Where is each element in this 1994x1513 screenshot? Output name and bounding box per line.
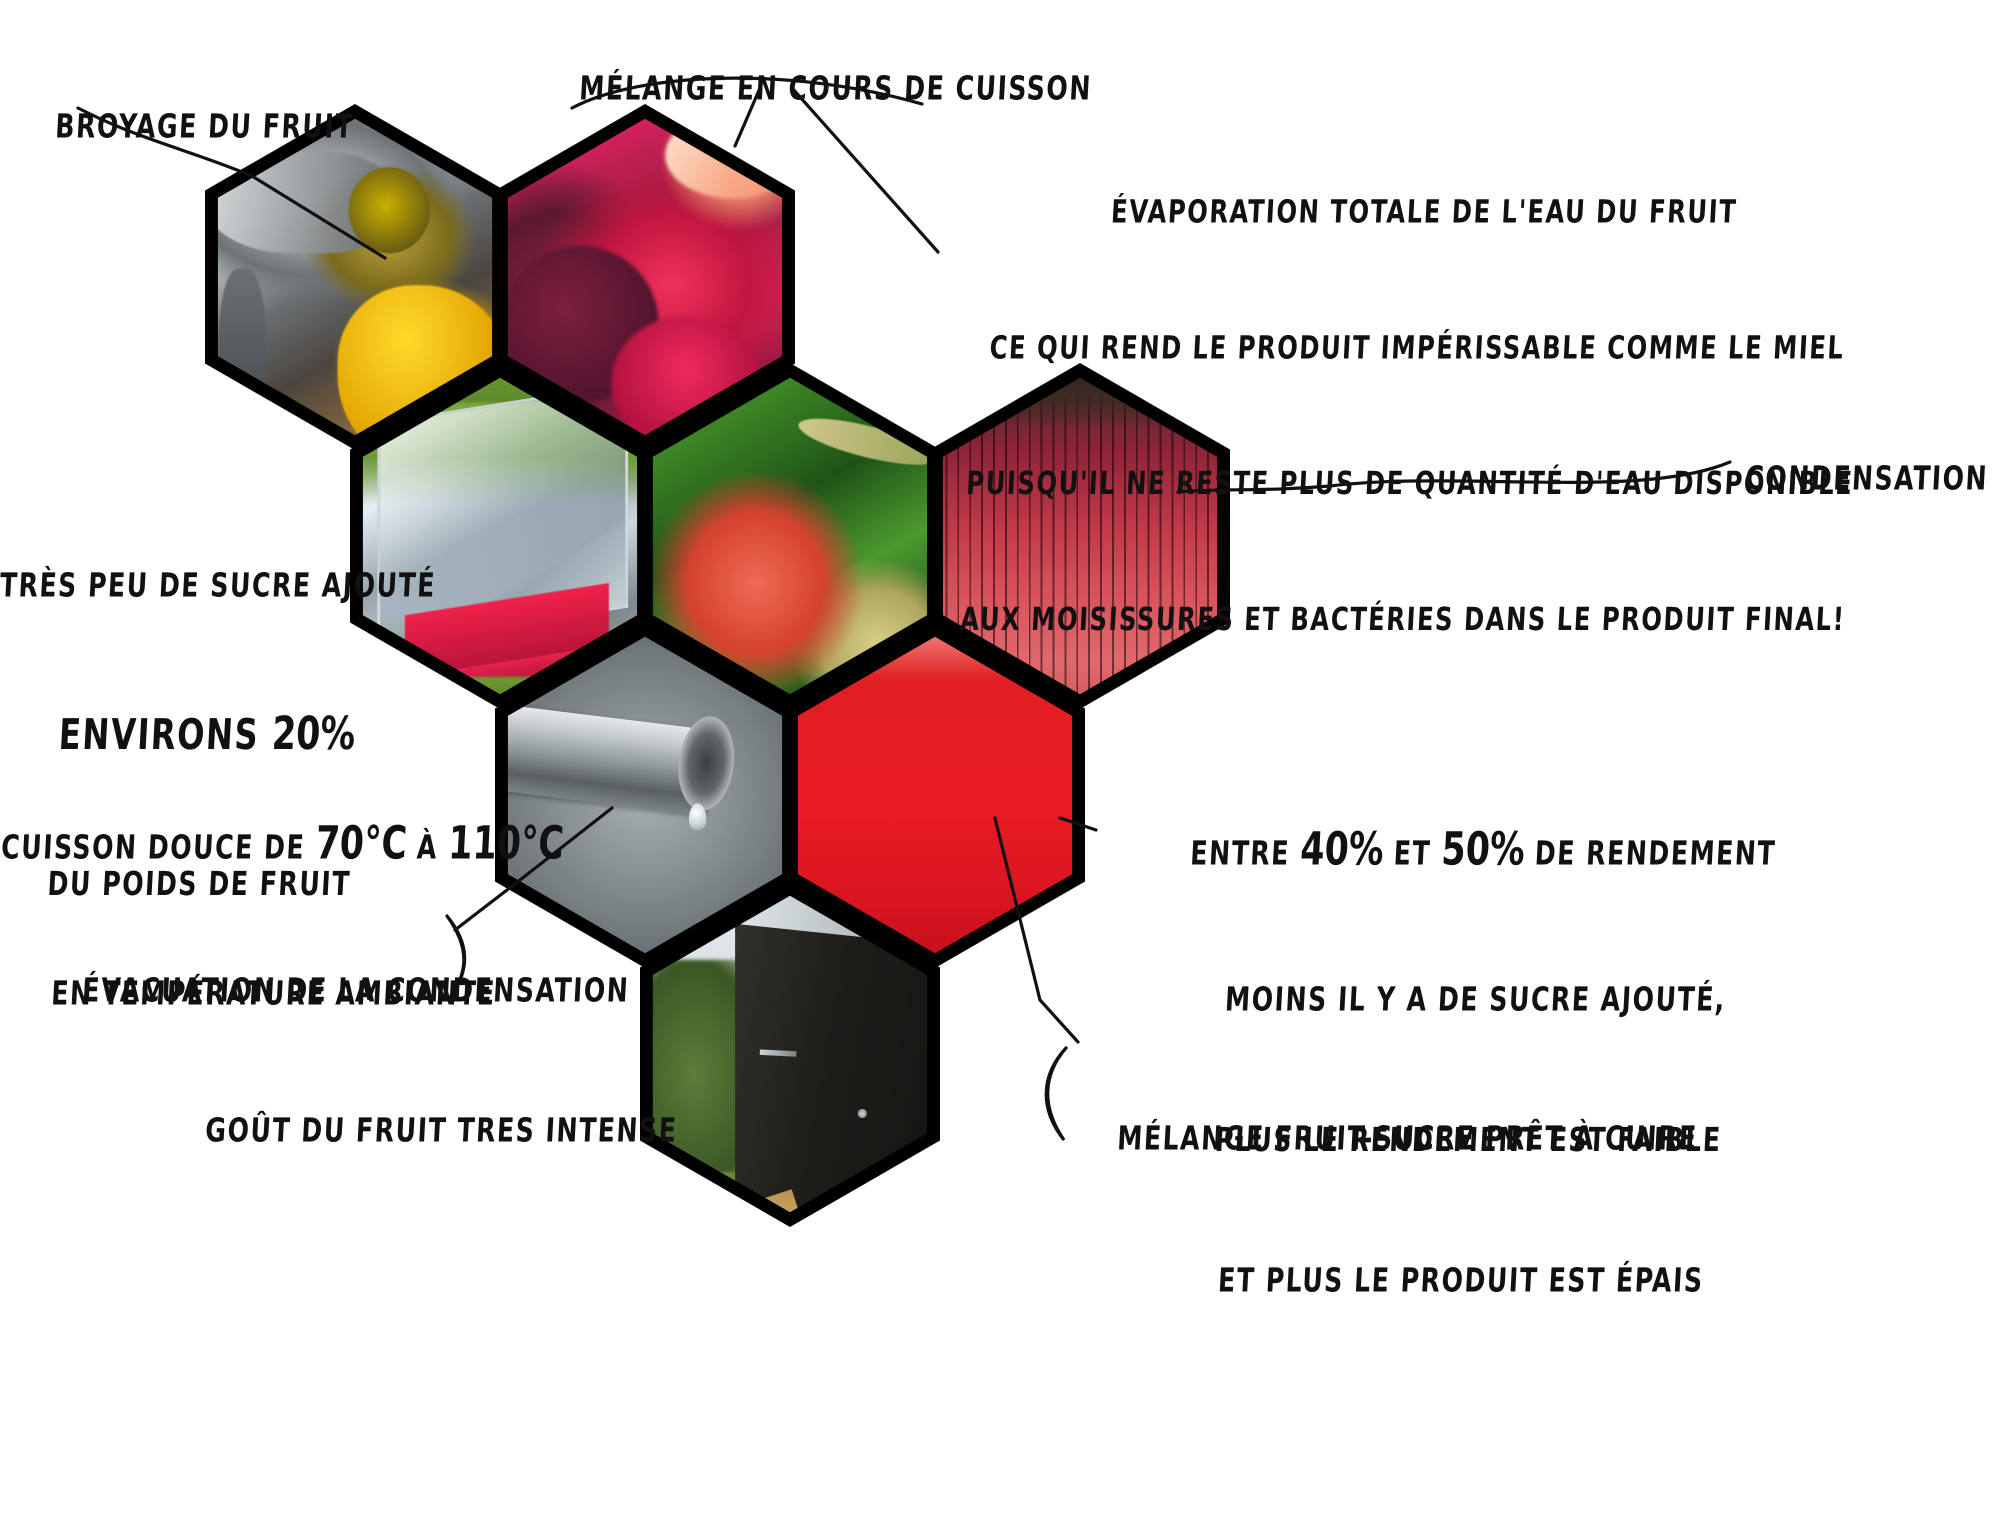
caption-rendement-block: Entre 40% et 50% de rendement Moins il y… [1065,724,1880,1398]
caption-evacuation-text: Évacuation de la condensation [81,970,630,1009]
evaporation-line-1: Évaporation totale de l'eau du fruit [873,190,1975,235]
melange-en-cuisson-photo [508,119,783,436]
rendement-suffix: de rendement [1524,833,1778,872]
evaporation-line-2: ce qui rend le produit impérissable comm… [866,326,1968,371]
cuisson-temp-min: 70°C [314,817,408,870]
rendement-line-4: et plus le produit est épais [1070,1258,1852,1305]
four-exterieur-photo [653,896,928,1213]
cuisson-temp-max: 110°C [447,817,565,870]
caption-broyage-text: Broyage du fruit [54,106,355,145]
sucre-line-1: Très peu de sucre ajouté [0,562,431,609]
hexagon-inner-clip [653,896,928,1213]
infographic-canvas: Broyage du fruit Mélange en cours de cui… [0,0,1994,1513]
caption-gout-text: Goût du fruit tres intense [204,1110,678,1149]
caption-condensation: Condensation [1701,408,1992,549]
caption-pret-text: Mélange fruit-sucre prêt à cuire [1116,1118,1698,1157]
caption-condensation-text: Condensation [1744,458,1989,497]
rendement-line-1: Entre 40% et 50% de rendement [1092,818,1875,883]
brace-pret-a-cuire [1046,1048,1066,1140]
rendement-value-max: 50% [1440,823,1526,876]
hexagon-inner-clip [508,119,783,436]
caption-melange-fruit-sucre-pret: Mélange fruit-sucre prêt à cuire [1073,1068,1702,1209]
caption-broyage-du-fruit: Broyage du fruit [11,56,358,197]
cuisson-mid: à [406,827,450,866]
rendement-mid: et [1382,833,1442,872]
evaporation-line-4: aux moisissures et bactéries dans le pro… [852,597,1954,642]
cuisson-line-1: cuisson douce de 70°C à 110°C [0,812,563,877]
caption-gout-du-fruit: Goût du fruit tres intense [161,1060,681,1201]
rendement-prefix: Entre [1189,833,1301,872]
rendement-line-2: Moins il y a de sucre ajouté, [1084,976,1866,1023]
cuisson-prefix: cuisson douce de [0,827,316,866]
caption-evacuation-condensation: Évacuation de la condensation [38,920,633,1061]
rendement-value-min: 40% [1299,823,1385,876]
